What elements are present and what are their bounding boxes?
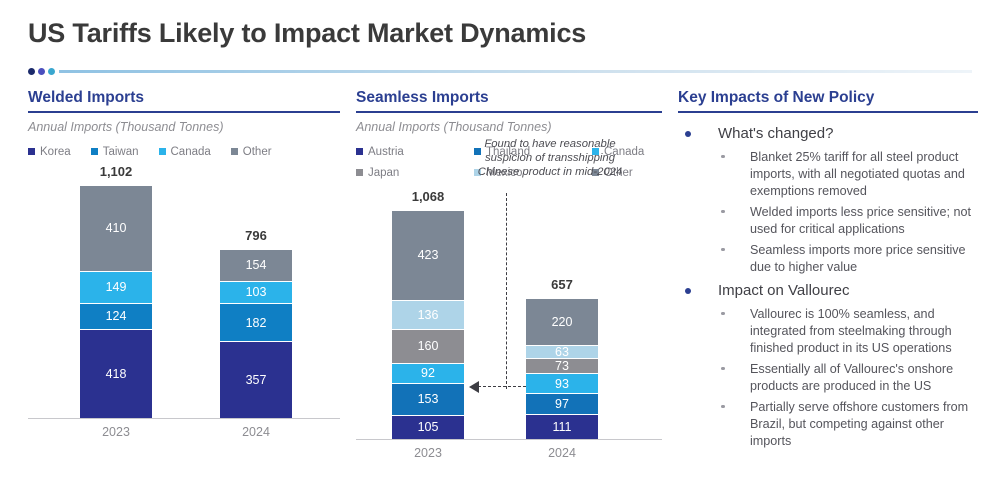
impact-point: Seamless imports more price sensitive du… [678, 242, 978, 276]
legend-swatch-icon [231, 148, 238, 155]
page-title: US Tariffs Likely to Impact Market Dynam… [28, 18, 586, 49]
bar-segment-canada-2023[interactable]: 149 [80, 272, 152, 303]
bar-total-2023: 1,068 [392, 189, 464, 204]
bar-stack-2023[interactable]: 410149124418 [80, 186, 152, 418]
category-label-2024: 2024 [526, 446, 598, 460]
impact-point-text: Seamless imports more price sensitive du… [750, 243, 966, 274]
impact-group-0: What's changed?Blanket 25% tariff for al… [678, 123, 978, 276]
bar-segment-mexico-2023[interactable]: 136 [392, 301, 464, 330]
category-label-2024: 2024 [220, 425, 292, 439]
bar-segment-other-2024[interactable]: 220 [526, 299, 598, 346]
chart-axis-line [28, 418, 340, 420]
seamless-heading: Seamless Imports [356, 88, 662, 108]
bar-segment-other-2023[interactable]: 410 [80, 186, 152, 272]
impact-point-text: Vallourec is 100% seamless, and integrat… [750, 307, 952, 355]
welded-chart: 4101491244181,10220231541031823577962024 [28, 168, 340, 464]
impact-group-title-text: Impact on Vallourec [718, 282, 849, 299]
impacts-list: What's changed?Blanket 25% tariff for al… [678, 123, 978, 450]
transshipping-annotation: Found to have reasonable suspicion of tr… [466, 137, 634, 179]
impact-point: Partially serve offshore customers from … [678, 399, 978, 450]
accent-dot-3 [48, 68, 55, 75]
bar-segment-other-2023[interactable]: 423 [392, 211, 464, 301]
bullet-icon [685, 288, 691, 294]
impact-point: Essentially all of Vallourec's onshore p… [678, 361, 978, 395]
welded-legend-item-korea: Korea [28, 146, 71, 158]
seamless-chart: Found to have reasonable suspicion of tr… [356, 189, 662, 485]
welded-legend-item-canada: Canada [159, 146, 211, 158]
legend-label: Japan [368, 167, 399, 179]
bar-segment-thailand-2023[interactable]: 153 [392, 384, 464, 417]
impact-point: Vallourec is 100% seamless, and integrat… [678, 306, 978, 357]
accent-rule [28, 66, 972, 76]
seamless-subtitle: Annual Imports (Thousand Tonnes) [356, 120, 662, 134]
bullet-icon [685, 131, 691, 137]
impact-point-text: Essentially all of Vallourec's onshore p… [750, 362, 953, 393]
accent-line [59, 70, 972, 73]
legend-swatch-icon [356, 148, 363, 155]
welded-heading: Welded Imports [28, 88, 340, 108]
bar-stack-2023[interactable]: 42313616092153105 [392, 211, 464, 439]
welded-subtitle: Annual Imports (Thousand Tonnes) [28, 120, 340, 134]
impact-group-1: Impact on VallourecVallourec is 100% sea… [678, 280, 978, 450]
bar-segment-japan-2023[interactable]: 160 [392, 330, 464, 364]
impact-point: Welded imports less price sensitive; not… [678, 204, 978, 238]
impact-point: Blanket 25% tariff for all steel product… [678, 149, 978, 200]
accent-dot-1 [28, 68, 35, 75]
bar-segment-austria-2024[interactable]: 111 [526, 415, 598, 439]
accent-dot-2 [38, 68, 45, 75]
legend-label: Austria [368, 146, 404, 158]
bar-segment-taiwan-2023[interactable]: 124 [80, 304, 152, 330]
bar-segment-mexico-2024[interactable]: 63 [526, 346, 598, 359]
legend-swatch-icon [91, 148, 98, 155]
legend-label: Other [243, 146, 272, 158]
bar-stack-2024[interactable]: 22063739397111 [526, 299, 598, 439]
legend-label: Canada [171, 146, 211, 158]
bar-total-2024: 657 [526, 277, 598, 292]
annotation-dashed-line [506, 193, 507, 389]
seamless-heading-rule [356, 111, 662, 113]
arrow-head-left [469, 381, 479, 393]
impact-group-title: Impact on Vallourec [678, 280, 978, 302]
sub-bullet-icon [721, 312, 725, 316]
legend-label: Korea [40, 146, 71, 158]
bar-segment-canada-2024[interactable]: 93 [526, 374, 598, 394]
impact-group-title: What's changed? [678, 123, 978, 145]
bar-segment-canada-2024[interactable]: 103 [220, 282, 292, 304]
sub-bullet-icon [721, 210, 725, 214]
impact-point-text: Blanket 25% tariff for all steel product… [750, 150, 965, 198]
bar-total-2024: 796 [220, 228, 292, 243]
sub-bullet-icon [721, 405, 725, 409]
bar-segment-canada-2023[interactable]: 92 [392, 364, 464, 384]
category-label-2023: 2023 [392, 446, 464, 460]
bar-segment-korea-2024[interactable]: 357 [220, 342, 292, 417]
impacts-heading: Key Impacts of New Policy [678, 88, 978, 108]
welded-legend-item-taiwan: Taiwan [91, 146, 139, 158]
panel-welded-imports: Welded Imports Annual Imports (Thousand … [28, 88, 340, 483]
bar-stack-2024[interactable]: 154103182357 [220, 250, 292, 418]
sub-bullet-icon [721, 367, 725, 371]
impacts-heading-rule [678, 111, 978, 113]
chart-axis-line [356, 439, 662, 441]
impact-group-title-text: What's changed? [718, 125, 833, 142]
category-label-2023: 2023 [80, 425, 152, 439]
legend-swatch-icon [356, 169, 363, 176]
bar-segment-austria-2023[interactable]: 105 [392, 416, 464, 438]
bar-segment-thailand-2024[interactable]: 97 [526, 394, 598, 415]
welded-heading-rule [28, 111, 340, 113]
welded-legend: KoreaTaiwanCanadaOther [28, 146, 340, 158]
sub-bullet-icon [721, 248, 725, 252]
bar-total-2023: 1,102 [80, 164, 152, 179]
bar-segment-taiwan-2024[interactable]: 182 [220, 304, 292, 342]
seamless-legend-item-austria: Austria [356, 146, 474, 158]
bar-segment-other-2024[interactable]: 154 [220, 250, 292, 283]
bar-segment-japan-2024[interactable]: 73 [526, 359, 598, 375]
welded-legend-item-other: Other [231, 146, 272, 158]
impact-point-text: Welded imports less price sensitive; not… [750, 205, 971, 236]
legend-swatch-icon [28, 148, 35, 155]
legend-label: Taiwan [103, 146, 139, 158]
sub-bullet-icon [721, 155, 725, 159]
legend-swatch-icon [159, 148, 166, 155]
impact-point-text: Partially serve offshore customers from … [750, 400, 968, 448]
seamless-legend-item-japan: Japan [356, 167, 474, 179]
panel-seamless-imports: Seamless Imports Annual Imports (Thousan… [356, 88, 662, 483]
panel-key-impacts: Key Impacts of New Policy What's changed… [678, 88, 978, 483]
bar-segment-korea-2023[interactable]: 418 [80, 330, 152, 418]
